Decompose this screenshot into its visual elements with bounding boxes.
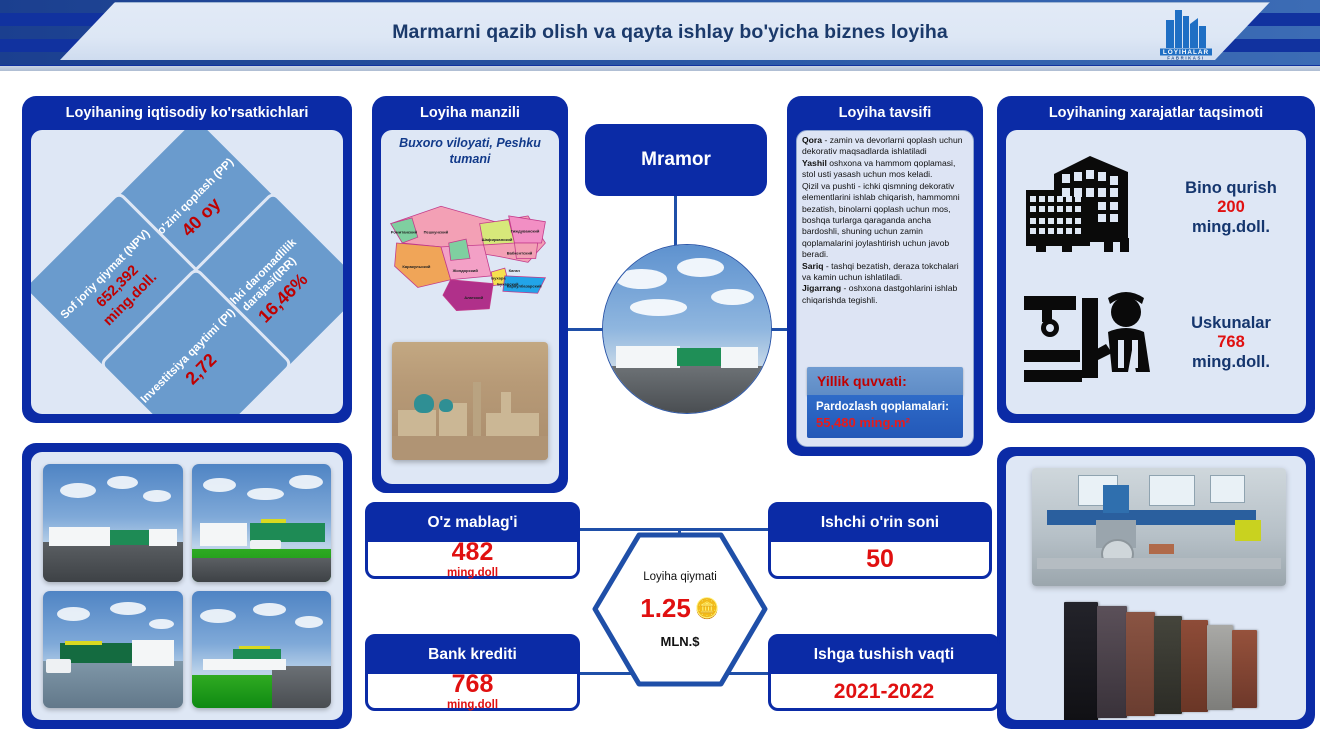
svg-text:Вабкентский: Вабкентский xyxy=(507,251,533,256)
desc-bold-0: Qora xyxy=(802,135,822,145)
hexagon-caption: Loyiha qiymati xyxy=(643,571,717,583)
svg-text:Ромитанский: Ромитанский xyxy=(391,229,418,234)
connector-circle-to-location xyxy=(568,328,604,331)
stone-cutting-machine-photo-icon[interactable] xyxy=(1032,468,1286,586)
launch-time-box: Ishga tushish vaqti 2021-2022 xyxy=(768,634,1000,711)
launch-time-label: Ishga tushish vaqti xyxy=(770,636,998,674)
cost-distribution-title: Loyihaning xarajatlar taqsimoti xyxy=(997,96,1315,130)
own-funds-value: 482 xyxy=(452,540,494,565)
economic-indicators-panel: Loyihaning iqtisodiy ko'rsatkichlari O'z… xyxy=(22,96,352,423)
own-funds-box: O'z mablag'i 482 ming.doll xyxy=(365,502,580,579)
diamond-cluster: O'z-o'zini qoplash (PP) 40 oy Sof joriy … xyxy=(31,130,343,414)
svg-text:FABRIKASI: FABRIKASI xyxy=(1167,56,1205,60)
bank-credit-unit: ming.doll xyxy=(447,700,498,712)
jobs-body: 50 xyxy=(771,543,989,576)
granite-marble-slabs-photo-icon[interactable] xyxy=(1064,598,1276,720)
project-value-hexagon: Loyiha qiymati 1.25 🪙 MLN.$ xyxy=(592,532,768,687)
connector-top-horizontal xyxy=(580,528,774,531)
description-body: Qora - zamin va devorlarni qoplash uchun… xyxy=(796,130,974,447)
connector-mramor-to-circle xyxy=(674,196,677,246)
header-panel: Marmarni qazib olish va qayta ishlay bo'… xyxy=(60,2,1270,60)
cost-item-building: Bino qurish 200 ming.doll. xyxy=(1020,142,1302,274)
production-photos-panel xyxy=(997,447,1315,729)
svg-text:Гиждуванский: Гиждуванский xyxy=(511,228,540,233)
page-title: Marmarni qazib olish va qayta ishlay bo'… xyxy=(60,3,1270,61)
bank-credit-value: 768 xyxy=(452,672,494,697)
jobs-value: 50 xyxy=(866,547,894,572)
cost-distribution-panel: Loyihaning xarajatlar taqsimoti xyxy=(997,96,1315,423)
annual-capacity-box: Yillik quvvati: Pardozlash qoplamalari: … xyxy=(807,367,963,438)
cost-item-building-text: Bino qurish 200 ming.doll. xyxy=(1160,179,1302,237)
location-subtitle: Buxoro viloyati, Peshku tumani xyxy=(387,136,553,167)
hexagon-value: 1.25 xyxy=(640,593,691,624)
bukhara-city-aerial-photo-icon[interactable] xyxy=(392,342,548,460)
cost-item-equipment: Uskunalar 768 ming.doll. xyxy=(1020,288,1302,398)
jobs-box: Ishchi o'rin soni 50 xyxy=(768,502,992,579)
desc-bold-4: Jigarrang xyxy=(802,283,841,293)
annual-capacity-body: Pardozlash qoplamalari: 55,480 ming.m² xyxy=(807,395,963,438)
capacity-line-1: Pardozlash qoplamalari: xyxy=(816,401,954,413)
svg-text:Каган: Каган xyxy=(509,268,521,273)
cost-item-equipment-text: Uskunalar 768 ming.doll. xyxy=(1160,314,1302,372)
location-body: Buxoro viloyati, Peshku tumani xyxy=(381,130,559,484)
render-photo-2[interactable] xyxy=(192,464,332,582)
mramor-label: Mramor xyxy=(641,149,711,171)
description-text: Qora - zamin va devorlarni qoplash uchun… xyxy=(802,135,969,306)
render-photo-4[interactable] xyxy=(192,591,332,709)
bank-credit-box: Bank krediti 768 ming.doll xyxy=(365,634,580,711)
hexagon-value-row: 1.25 🪙 xyxy=(640,593,720,624)
jobs-label: Ishchi o'rin soni xyxy=(770,504,990,542)
project-renders-body xyxy=(31,452,343,720)
svg-text:Каракульский: Каракульский xyxy=(402,264,431,269)
economic-indicators-body: O'z-o'zini qoplash (PP) 40 oy Sof joriy … xyxy=(31,130,343,414)
hexagon-unit: MLN.$ xyxy=(661,634,700,649)
desc-bold-3: Sariq xyxy=(802,261,824,271)
render-photo-1[interactable] xyxy=(43,464,183,582)
svg-text:Караулбазарский: Караулбазарский xyxy=(507,283,542,288)
desc-text-0: - zamin va devorlarni qoplash uchun deko… xyxy=(802,135,963,156)
svg-text:Жондорский: Жондорский xyxy=(452,268,479,273)
location-title: Loyiha manzili xyxy=(372,96,568,130)
desc-bold-1: Yashil xyxy=(802,158,827,168)
coins-icon: 🪙 xyxy=(695,596,720,621)
mramor-node[interactable]: Mramor xyxy=(585,124,767,196)
description-title: Loyiha tavsifi xyxy=(787,96,983,130)
bukhara-region-map-icon[interactable]: Ромитанский Пешкунский Шафирканский Гижд… xyxy=(383,182,557,332)
machinery-worker-icon xyxy=(1020,288,1160,398)
desc-text-2: Qizil va pushti - ichki qismning dekorat… xyxy=(802,181,960,260)
render-photo-3[interactable] xyxy=(43,591,183,709)
page-header: Marmarni qazib olish va qayta ishlay bo'… xyxy=(0,0,1320,66)
own-funds-unit: ming.doll xyxy=(447,568,498,580)
project-renders-panel xyxy=(22,443,352,729)
svg-text:Алатский: Алатский xyxy=(464,295,483,300)
bank-credit-label: Bank krediti xyxy=(367,636,578,674)
location-panel: Loyiha manzili Buxoro viloyati, Peshku t… xyxy=(372,96,568,493)
buildings-logo-icon: LOYIHALAR FABRIKASI xyxy=(1144,4,1228,60)
project-renders-gallery xyxy=(43,464,331,708)
factory-render-circle-icon[interactable] xyxy=(602,244,772,414)
own-funds-body: 482 ming.doll xyxy=(368,543,577,576)
annual-capacity-title: Yillik quvvati: xyxy=(807,367,963,395)
production-photos-body xyxy=(1006,456,1306,720)
svg-text:Бухара: Бухара xyxy=(491,276,506,281)
description-panel: Loyiha tavsifi Qora - zamin va devorlarn… xyxy=(787,96,983,456)
own-funds-label: O'z mablag'i xyxy=(367,504,578,542)
launch-time-body: 2021-2022 xyxy=(771,675,997,708)
building-icon xyxy=(1020,142,1160,274)
bank-credit-body: 768 ming.doll xyxy=(368,675,577,708)
desc-text-3: - tashqi bezatish, deraza tokchalari va … xyxy=(802,261,959,282)
cost-distribution-body: Bino qurish 200 ming.doll. xyxy=(1006,130,1306,414)
svg-text:Пешкунский: Пешкунский xyxy=(424,229,449,234)
economic-indicators-title: Loyihaning iqtisodiy ko'rsatkichlari xyxy=(22,96,352,130)
infographic-root: Marmarni qazib olish va qayta ishlay bo'… xyxy=(0,0,1320,743)
hexagon-content: Loyiha qiymati 1.25 🪙 MLN.$ xyxy=(592,532,768,687)
capacity-line-2: 55,480 ming.m² xyxy=(816,415,954,430)
launch-time-value: 2021-2022 xyxy=(834,681,934,702)
header-underline xyxy=(0,66,1320,71)
svg-text:Шафирканский: Шафирканский xyxy=(482,237,513,242)
